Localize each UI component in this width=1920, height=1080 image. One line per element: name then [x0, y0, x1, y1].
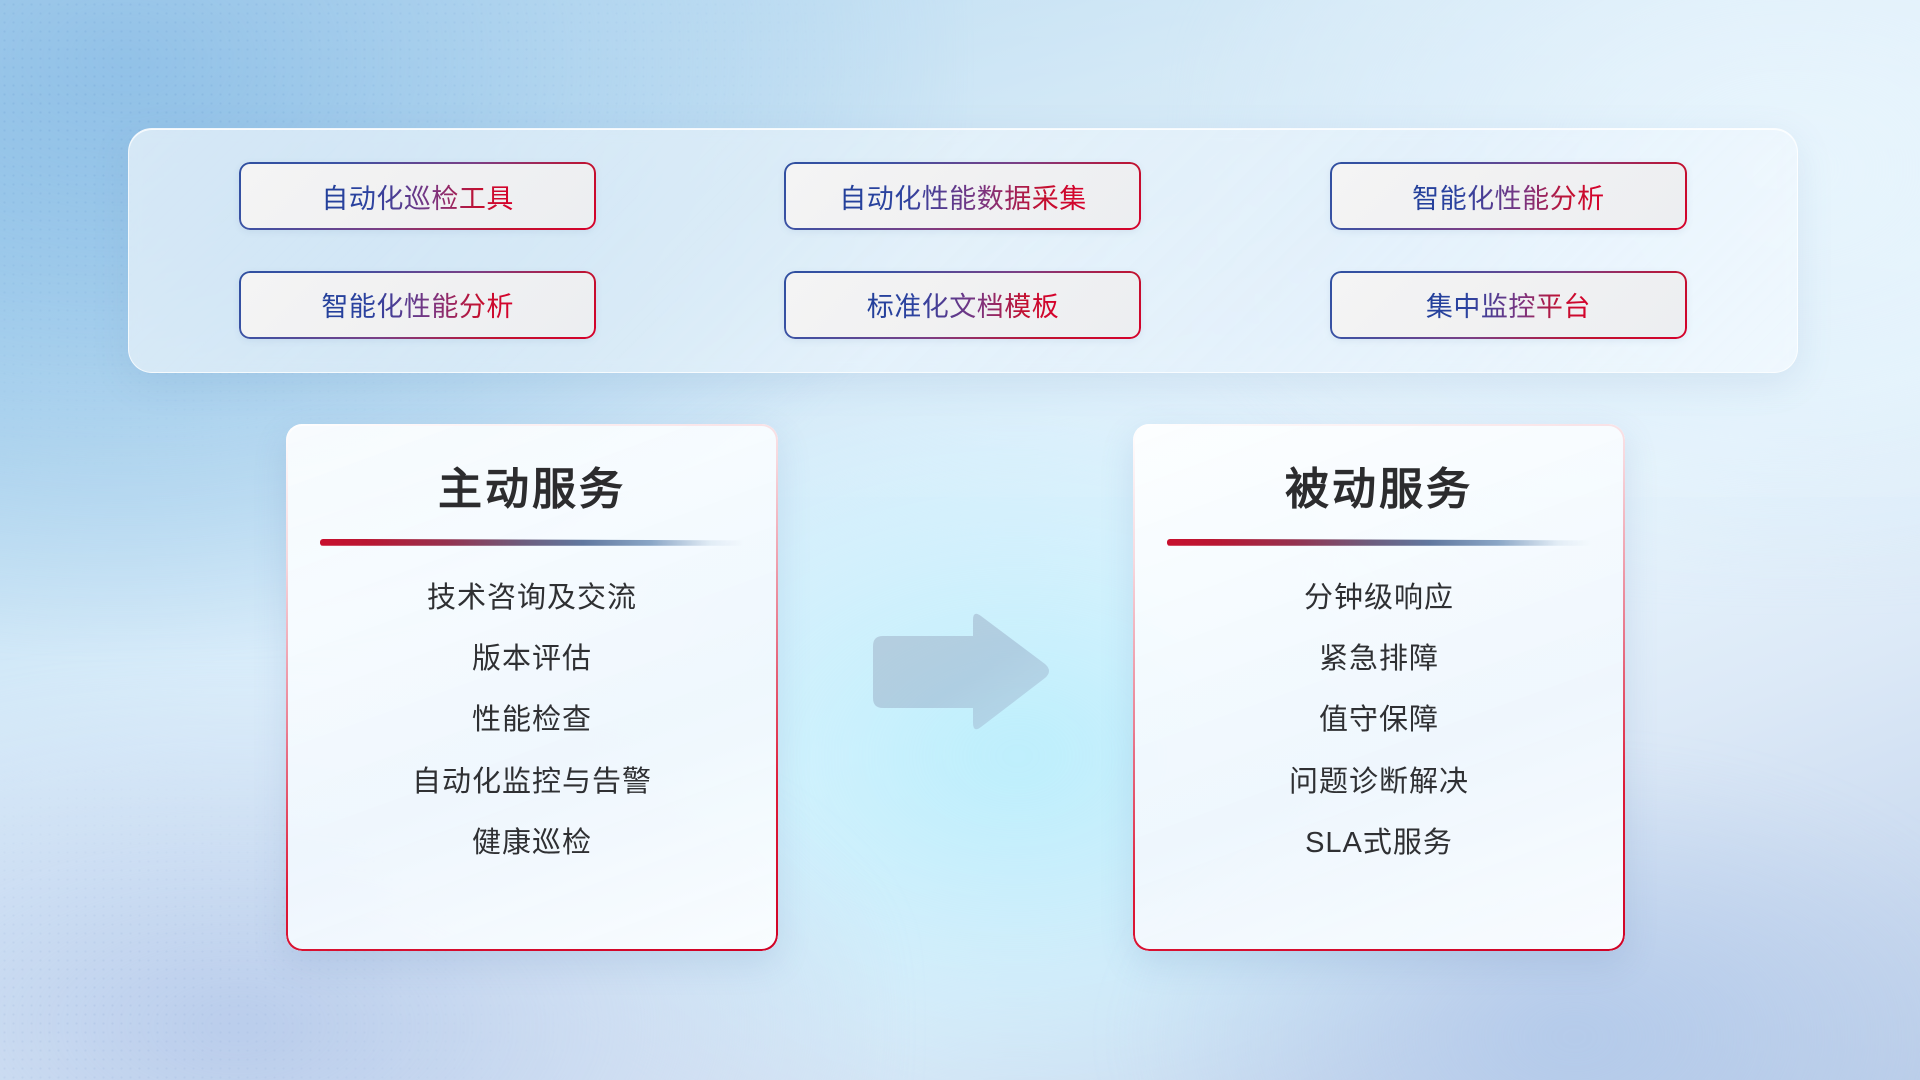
capability-tag-intelligent-performance-analysis-1[interactable]: 智能化性能分析: [1330, 162, 1687, 230]
capability-tag-automated-inspection-tool[interactable]: 自动化巡检工具: [239, 162, 596, 230]
list-item: 健康巡检: [320, 825, 744, 861]
list-item: 问题诊断解决: [1167, 764, 1591, 800]
card-item-list: 技术咨询及交流 版本评估 性能检查 自动化监控与告警 健康巡检: [320, 580, 744, 861]
arrow-right-icon: [865, 608, 1055, 736]
card-title-underline: [320, 539, 744, 546]
list-item: 分钟级响应: [1167, 580, 1591, 616]
capability-tag-intelligent-performance-analysis-2[interactable]: 智能化性能分析: [239, 271, 596, 339]
list-item: 技术咨询及交流: [320, 580, 744, 616]
capability-tag-label: 智能化性能分析: [321, 285, 514, 324]
card-title-underline: [1167, 539, 1591, 546]
list-item: 值守保障: [1167, 702, 1591, 738]
card-item-list: 分钟级响应 紧急排障 值守保障 问题诊断解决 SLA式服务: [1167, 580, 1591, 861]
capability-tag-label: 集中监控平台: [1426, 285, 1591, 324]
list-item: 自动化监控与告警: [320, 764, 744, 800]
capability-tag-label: 自动化性能数据采集: [839, 177, 1087, 216]
list-item: 性能检查: [320, 702, 744, 738]
capability-tag-label: 标准化文档模板: [867, 285, 1060, 324]
list-item: 紧急排障: [1167, 641, 1591, 677]
capability-tag-centralized-monitoring-platform[interactable]: 集中监控平台: [1330, 271, 1687, 339]
capability-tag-automated-performance-collection[interactable]: 自动化性能数据采集: [784, 162, 1141, 230]
capability-tag-label: 自动化巡检工具: [321, 177, 514, 216]
service-card-proactive: 主动服务 技术咨询及交流 版本评估 性能检查 自动化监控与告警 健康巡检: [286, 424, 778, 951]
list-item: 版本评估: [320, 641, 744, 677]
capability-tag-label: 智能化性能分析: [1412, 177, 1605, 216]
capability-tag-standard-document-template[interactable]: 标准化文档模板: [784, 271, 1141, 339]
service-card-reactive: 被动服务 分钟级响应 紧急排障 值守保障 问题诊断解决 SLA式服务: [1133, 424, 1625, 951]
card-title: 主动服务: [320, 464, 744, 517]
list-item: SLA式服务: [1167, 825, 1591, 861]
card-title: 被动服务: [1167, 464, 1591, 517]
capability-tag-panel: 自动化巡检工具 自动化性能数据采集 智能化性能分析 智能化性能分析 标准化文档模…: [128, 128, 1798, 373]
